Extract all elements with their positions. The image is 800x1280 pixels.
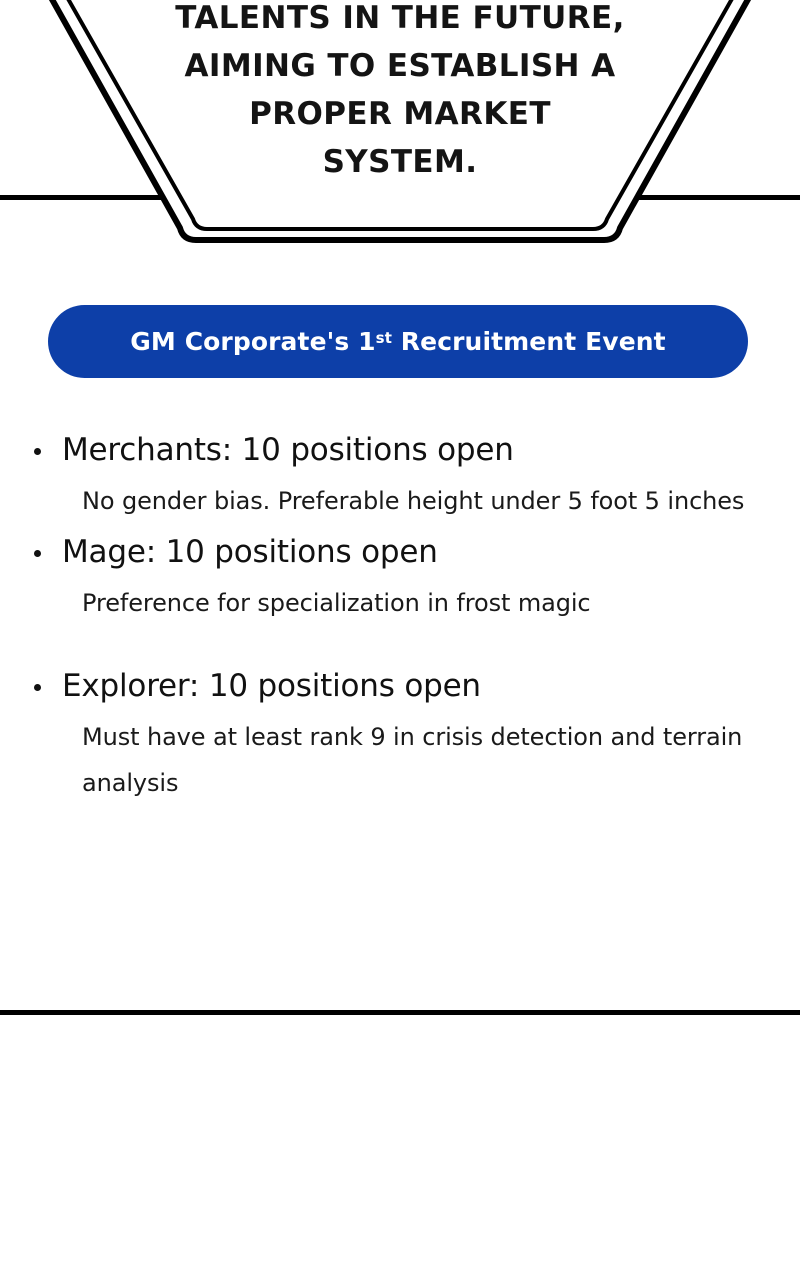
job-description-explorer: Must have at least rank 9 in crisis dete… <box>0 714 800 806</box>
job-description-mage: Preference for specialization in frost m… <box>0 580 800 626</box>
bullet-icon <box>34 448 41 455</box>
job-headline-merchants: Merchants: 10 positions open <box>0 428 800 472</box>
banner-label-superscript: st <box>376 329 392 347</box>
recruitment-event-banner-label: GM Corporate's 1st Recruitment Event <box>130 327 665 356</box>
divider-top-right <box>638 195 800 200</box>
list-item: Explorer: 10 positions open Must have at… <box>0 664 800 806</box>
banner-label-prefix: GM Corporate's 1 <box>130 327 375 356</box>
list-item: Merchants: 10 positions open No gender b… <box>0 428 800 524</box>
divider-top-left <box>0 195 162 200</box>
bullet-icon <box>34 550 41 557</box>
bullet-icon <box>34 684 41 691</box>
job-headline-mage: Mage: 10 positions open <box>0 530 800 574</box>
speech-bubble-text: TALENTS IN THE FUTURE, AIMING TO ESTABLI… <box>150 0 650 186</box>
list-item: Mage: 10 positions open Preference for s… <box>0 530 800 626</box>
footer-blank-panel <box>0 1015 800 1280</box>
recruitment-info-panel: GM Corporate's 1st Recruitment Event Mer… <box>0 248 800 1020</box>
job-headline-explorer: Explorer: 10 positions open <box>0 664 800 708</box>
recruitment-event-banner: GM Corporate's 1st Recruitment Event <box>48 305 748 378</box>
comic-panel-speech-bubble: TALENTS IN THE FUTURE, AIMING TO ESTABLI… <box>0 0 800 248</box>
job-openings-list: Merchants: 10 positions open No gender b… <box>0 428 800 812</box>
job-description-merchants: No gender bias. Preferable height under … <box>0 478 800 524</box>
banner-label-suffix: Recruitment Event <box>392 327 666 356</box>
